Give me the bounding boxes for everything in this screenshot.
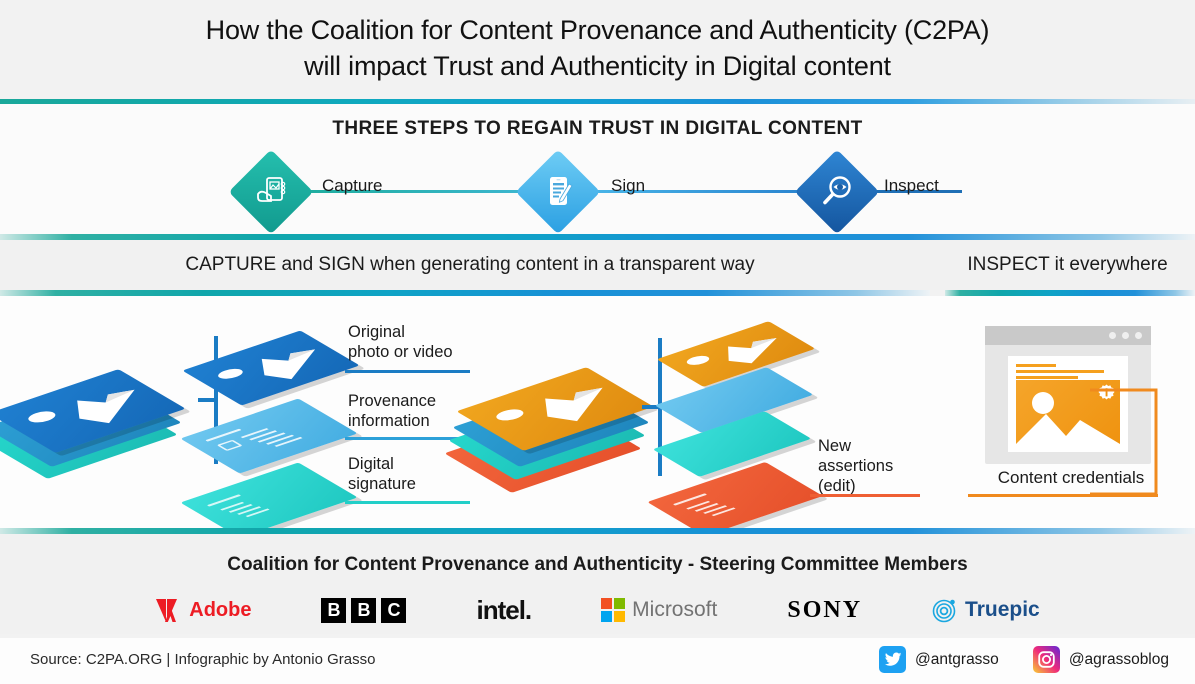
twitter-handle-group[interactable]: @antgrasso <box>879 646 999 673</box>
edited-content-stack <box>478 338 653 468</box>
footer-band: Source: C2PA.ORG | Infographic by Antoni… <box>0 638 1195 684</box>
twitter-bird-icon <box>879 646 906 673</box>
members-band: Coalition for Content Provenance and Aut… <box>0 534 1195 634</box>
adobe-logo-text: Adobe <box>189 599 251 622</box>
window-dot-2 <box>1122 332 1129 339</box>
step-capture-diamond <box>229 149 314 234</box>
content-text-line-3 <box>1016 376 1078 379</box>
step-sign[interactable] <box>519 152 597 230</box>
bbc-letter-1: B <box>321 598 346 623</box>
truepic-swirl-icon <box>932 597 958 623</box>
twitter-handle-text: @antgrasso <box>915 651 999 669</box>
instagram-camera-icon <box>1033 646 1060 673</box>
three-steps-row: Capture Sign <box>0 150 1195 234</box>
adobe-logo[interactable]: Adobe <box>155 598 251 623</box>
exploded-new-assertions <box>676 438 836 524</box>
intel-logo[interactable]: intel. <box>476 595 531 626</box>
content-credentials-underline <box>968 494 1158 497</box>
original-content-stack <box>10 338 185 468</box>
members-title: Coalition for Content Provenance and Aut… <box>0 554 1195 576</box>
section-headers-band: CAPTURE and SIGN when generating content… <box>0 240 1195 290</box>
bbc-logo[interactable]: B B C <box>321 598 406 623</box>
inspect-section-header: INSPECT it everywhere <box>940 254 1195 276</box>
underline-original-photo <box>345 370 470 373</box>
step-capture[interactable] <box>232 152 310 230</box>
window-dot-3 <box>1135 332 1142 339</box>
label-digital-signature: Digital signature <box>348 454 416 494</box>
label-provenance: Provenance information <box>348 391 436 431</box>
step-inspect-diamond <box>795 149 880 234</box>
title-band: How the Coalition for Content Provenance… <box>0 0 1195 98</box>
step-sign-diamond <box>516 149 601 234</box>
step-label-capture: Capture <box>322 176 382 196</box>
footer-source-text: Source: C2PA.ORG | Infographic by Antoni… <box>30 651 375 668</box>
content-text-line-2 <box>1016 370 1104 373</box>
page-title-line-1: How the Coalition for Content Provenance… <box>206 13 990 49</box>
three-steps-heading: THREE STEPS TO REGAIN TRUST IN DIGITAL C… <box>0 118 1195 140</box>
main-content-band: Original photo or video <box>0 296 1195 528</box>
browser-title-bar <box>985 326 1151 345</box>
label-original-photo: Original photo or video <box>348 322 453 362</box>
instagram-handle-group[interactable]: @agrassoblog <box>1033 646 1169 673</box>
intel-logo-text: intel. <box>476 595 531 626</box>
truepic-logo-text: Truepic <box>965 598 1040 622</box>
truepic-logo[interactable]: Truepic <box>932 597 1040 623</box>
label-new-assertions: New assertions (edit) <box>818 436 893 496</box>
members-logos-row: Adobe B B C intel. Microsoft S <box>0 590 1195 630</box>
underline-new-assertions <box>810 494 920 497</box>
window-dot-1 <box>1109 332 1116 339</box>
step-label-inspect: Inspect <box>884 176 939 196</box>
bbc-letter-3: C <box>381 598 406 623</box>
adobe-mark-icon <box>155 598 182 623</box>
microsoft-logo-text: Microsoft <box>632 598 717 622</box>
content-credentials-caption: Content credentials <box>966 468 1176 488</box>
instagram-handle-text: @agrassoblog <box>1069 651 1169 669</box>
step-label-sign: Sign <box>611 176 645 196</box>
step-inspect[interactable] <box>798 152 876 230</box>
infographic-page: How the Coalition for Content Provenance… <box>0 0 1195 684</box>
microsoft-logo[interactable]: Microsoft <box>601 598 717 622</box>
three-steps-band: THREE STEPS TO REGAIN TRUST IN DIGITAL C… <box>0 104 1195 234</box>
signature-card-icon <box>180 462 357 537</box>
microsoft-squares-icon <box>601 598 625 622</box>
capture-sign-section-header: CAPTURE and SIGN when generating content… <box>0 254 940 276</box>
page-title-line-2: will impact Trust and Authenticity in Di… <box>304 49 891 85</box>
footer-social-group: @antgrasso @agrassoblog <box>879 646 1169 673</box>
exploded-digital-signature <box>210 438 360 518</box>
bbc-letter-2: B <box>351 598 376 623</box>
new-assertions-card-icon <box>647 462 823 536</box>
sony-logo[interactable]: SONY <box>787 597 862 624</box>
sony-logo-text: SONY <box>787 597 862 624</box>
content-text-line-1 <box>1016 364 1056 367</box>
underline-digital-signature <box>345 501 470 504</box>
